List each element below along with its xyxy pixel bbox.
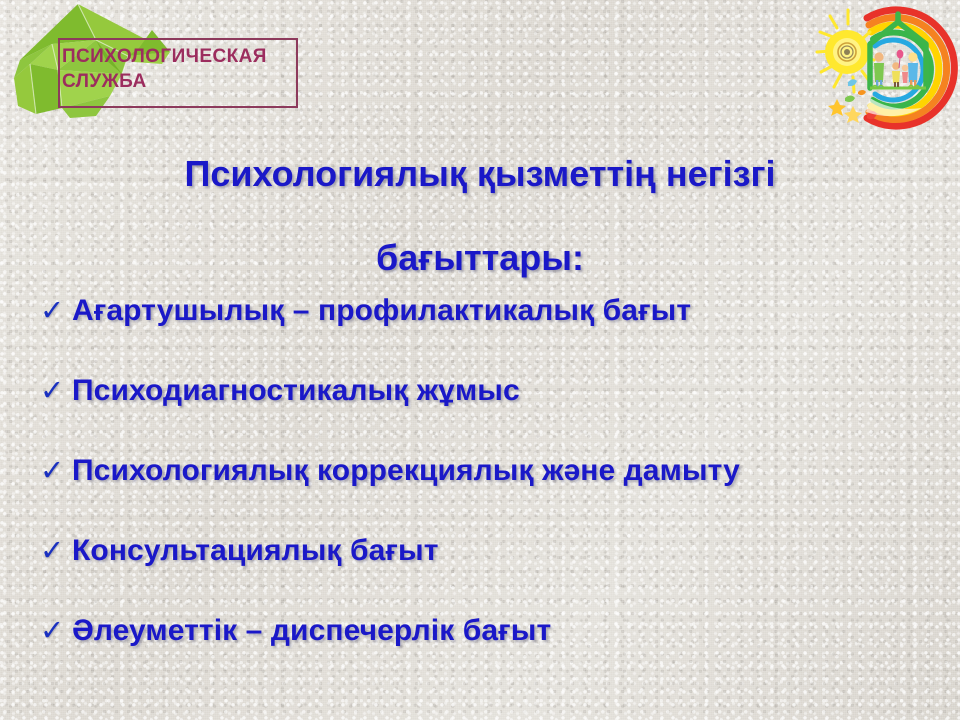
list-item: ✓ Консультациялық бағыт [40,536,940,616]
list-item: ✓ Әлеуметтік – диспечерлік бағыт [40,616,940,696]
direction-list: ✓ Ағартушылық – профилактикалық бағыт ✓ … [40,296,940,696]
psychological-service-logo: ПСИХОЛОГИЧЕСКАЯ СЛУЖБА [0,0,320,122]
page-title: Психологиялық қызметтің негізгі бағыттар… [60,132,900,300]
checkmark-icon: ✓ [40,456,72,485]
list-item-label: Әлеуметтік – диспечерлік бағыт [72,616,940,646]
sun-house-rainbow-emblem [812,2,958,130]
presentation-slide: ПСИХОЛОГИЧЕСКАЯ СЛУЖБА [0,0,960,720]
list-item-label: Психологиялық коррекциялық және дамыту [72,456,940,486]
page-title-line-1: Психологиялық қызметтің негізгі [60,132,900,216]
checkmark-icon: ✓ [40,616,72,645]
list-item-label: Психодиагностикалық жұмыс [72,376,940,406]
logo-text: ПСИХОЛОГИЧЕСКАЯ СЛУЖБА [62,44,312,94]
checkmark-icon: ✓ [40,536,72,565]
checkmark-icon: ✓ [40,296,72,325]
list-item-label: Ағартушылық – профилактикалық бағыт [72,296,940,326]
list-item: ✓ Ағартушылық – профилактикалық бағыт [40,296,940,376]
page-title-line-2: бағыттары: [60,216,900,300]
list-item-label: Консультациялық бағыт [72,536,940,566]
list-item: ✓ Психологиялық коррекциялық және дамыту [40,456,940,536]
checkmark-icon: ✓ [40,376,72,405]
list-item: ✓ Психодиагностикалық жұмыс [40,376,940,456]
